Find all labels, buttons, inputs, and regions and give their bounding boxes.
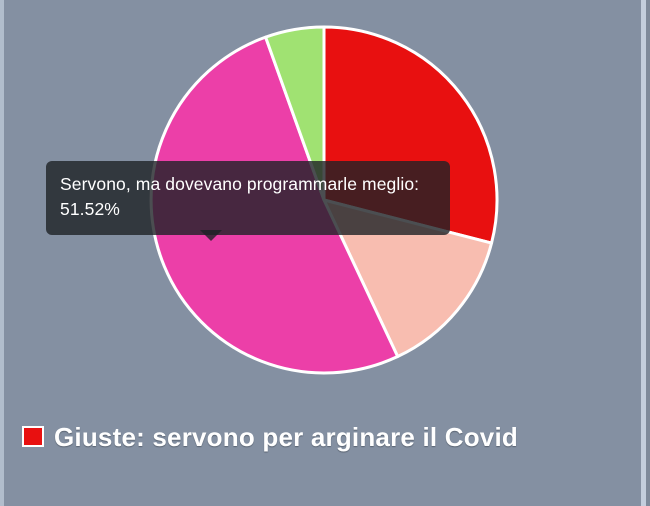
pie-chart-svg[interactable]	[148, 24, 500, 376]
page-left-edge	[0, 0, 4, 506]
scrollbar-track[interactable]	[646, 0, 650, 506]
legend-item-label: Giuste: servono per arginare il Covid	[54, 422, 518, 452]
pie-chart[interactable]	[148, 24, 500, 376]
chart-tooltip-arrow-icon	[200, 230, 222, 241]
legend-color-swatch-icon	[22, 426, 44, 447]
chart-legend[interactable]: Giuste: servono per arginare il Covid	[22, 420, 622, 455]
legend-item[interactable]: Giuste: servono per arginare il Covid	[22, 420, 622, 455]
chart-screen: Servono, ma dovevano programmarle meglio…	[0, 0, 650, 506]
